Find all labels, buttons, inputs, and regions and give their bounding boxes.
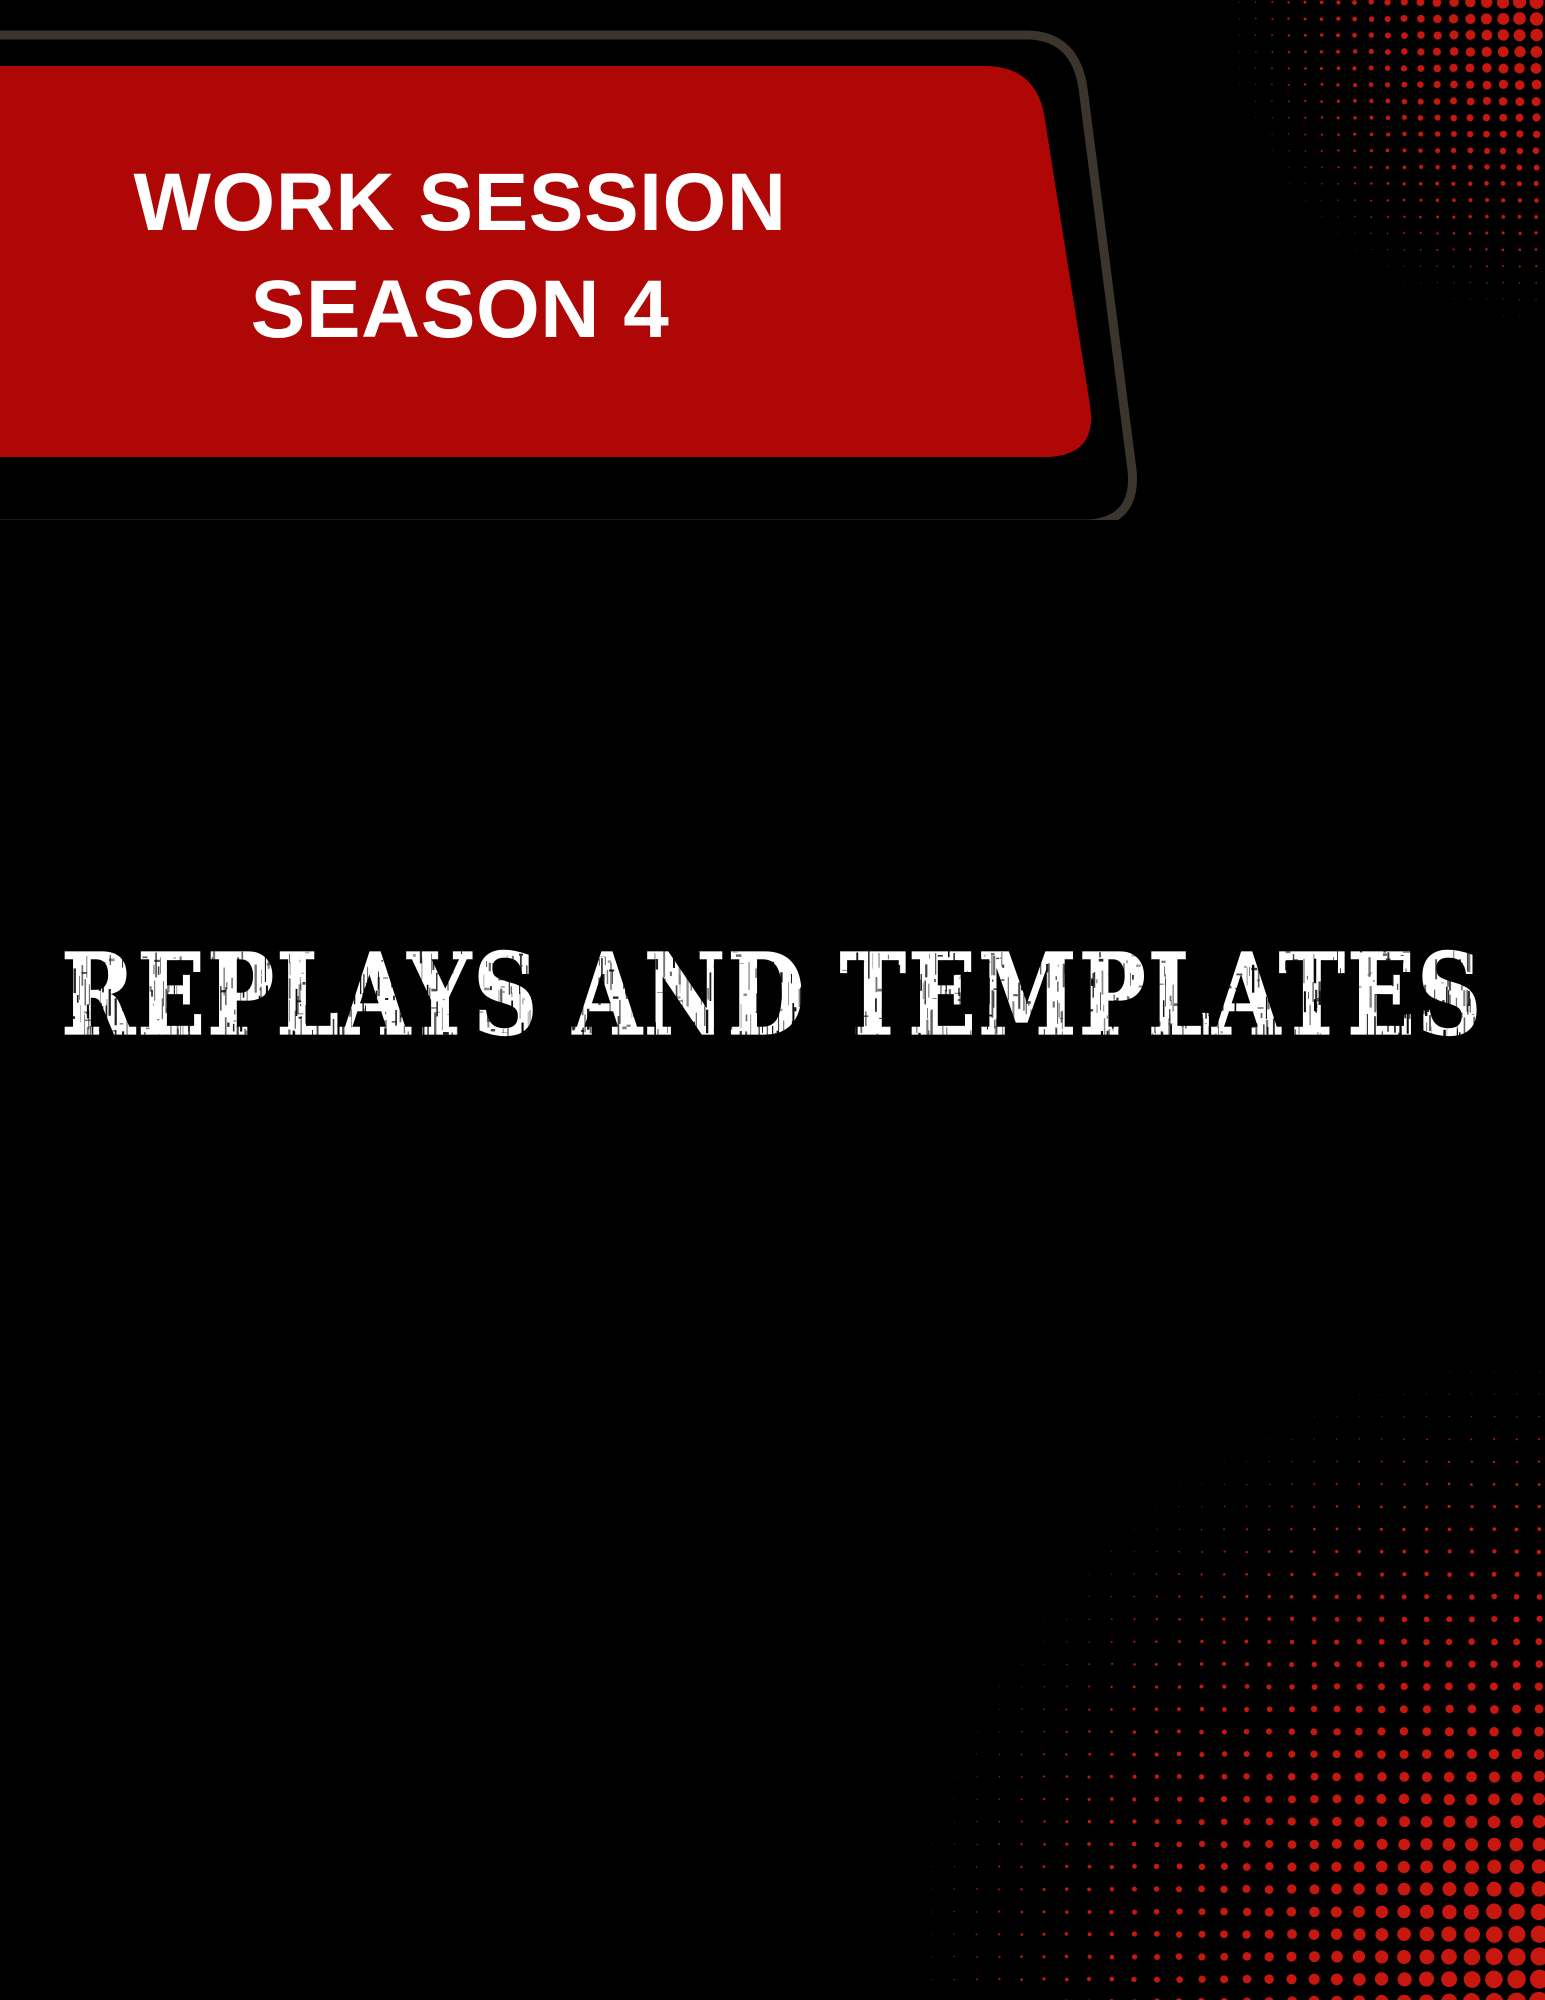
title-banner: WORK SESSION SEASON 4: [0, 0, 1160, 520]
subtitle-text: REPLAYS AND TEMPLATES: [61, 939, 1483, 1051]
halftone-dots-bottom-right-icon: [853, 1248, 1545, 2000]
page-title: WORK SESSION SEASON 4: [0, 150, 980, 363]
subtitle-container: REPLAYS AND TEMPLATES: [0, 920, 1545, 1070]
poster-slide: WORK SESSION SEASON 4 REPLAYS AND TEMPLA…: [0, 0, 1545, 2000]
